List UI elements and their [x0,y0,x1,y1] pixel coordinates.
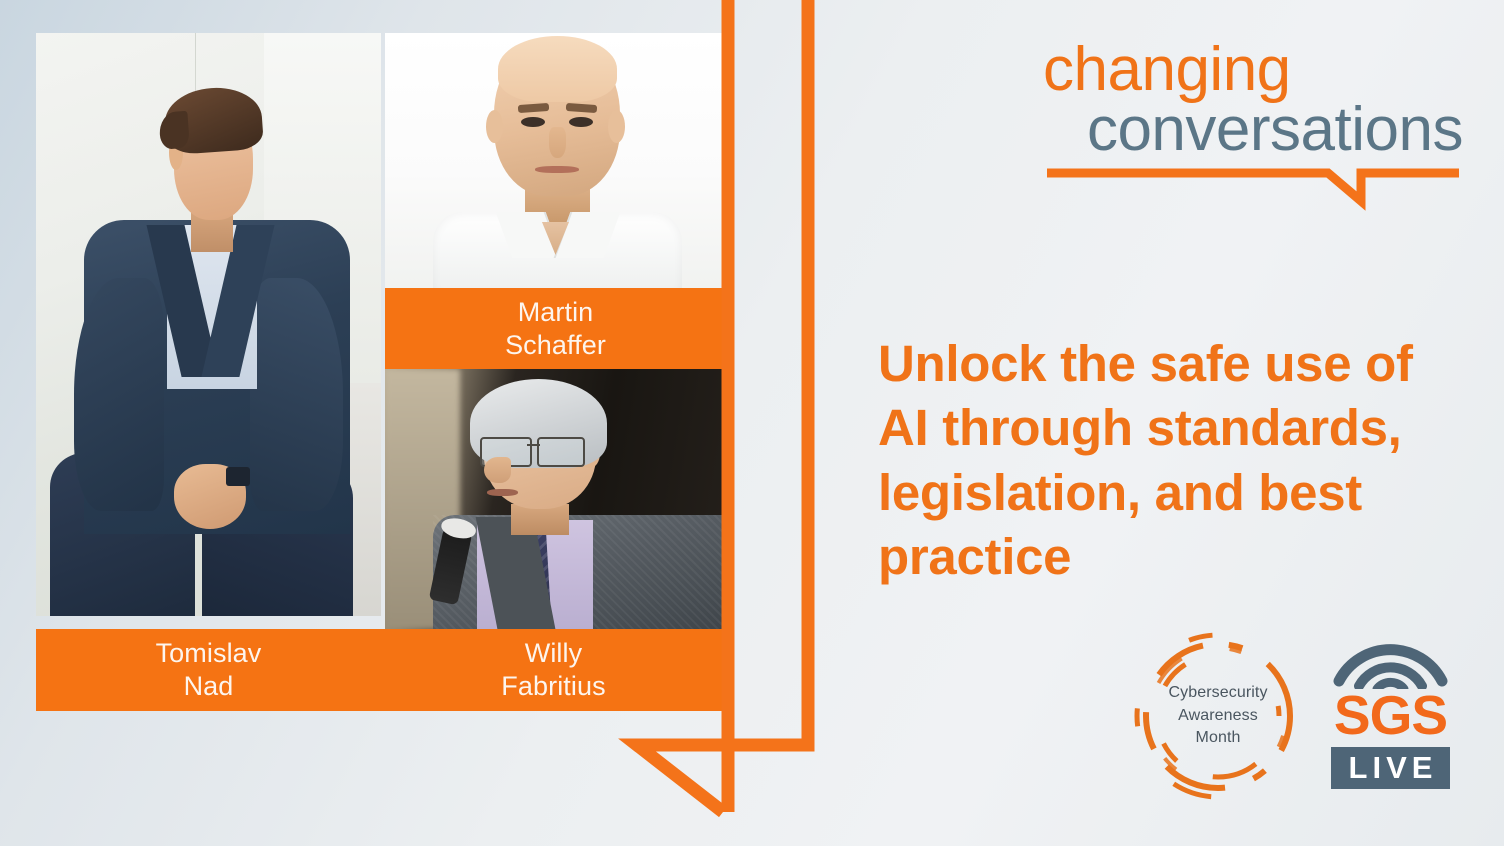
portrait-image-tomislav-nad [36,33,381,616]
badge-line-1: Cybersecurity [1168,682,1267,705]
nameplate-tomislav-nad: Tomislav Nad [36,637,381,703]
nameplate-row-bottom: Tomislav Nad Willy Fabritius [36,629,726,711]
speaker-first-name: Martin [518,296,594,329]
speaker-last-name: Schaffer [505,329,606,362]
badge-text-block: Cybersecurity Awareness Month [1130,628,1306,804]
speaker-photo-tomislav-nad [36,33,381,616]
logo-line-conversations: conversations [1043,99,1463,161]
badge-line-2: Awareness [1178,705,1258,728]
nameplate-martin-schaffer: Martin Schaffer [385,288,726,369]
sgs-live-sublabel: LIVE [1331,747,1450,789]
portrait-image-willy-fabritius [385,369,726,629]
logo-speech-tail-rule [1043,167,1463,225]
speaker-first-name: Willy [525,637,582,670]
wifi-broadcast-icon [1325,641,1456,689]
sgs-wordmark: SGS [1325,685,1456,745]
portrait-image-martin-schaffer [385,33,726,288]
logo-line-changing: changing [1043,40,1463,101]
speaker-first-name: Tomislav [156,637,262,670]
slide-canvas: Martin Schaffer [0,0,1504,846]
speaker-last-name: Fabritius [501,670,605,703]
speaker-photo-collage: Martin Schaffer [36,33,726,693]
speaker-photo-martin-schaffer [385,33,726,288]
badge-line-3: Month [1196,727,1241,750]
page-title: Unlock the safe use of AI through standa… [878,332,1458,589]
speaker-last-name: Nad [184,670,234,703]
cybersecurity-awareness-month-badge: Cybersecurity Awareness Month [1130,628,1306,804]
sgs-live-logo: SGS LIVE [1325,641,1456,789]
nameplate-willy-fabritius: Willy Fabritius [381,637,726,703]
speaker-photo-willy-fabritius [385,369,726,629]
changing-conversations-logo: changing conversations [1043,40,1463,230]
